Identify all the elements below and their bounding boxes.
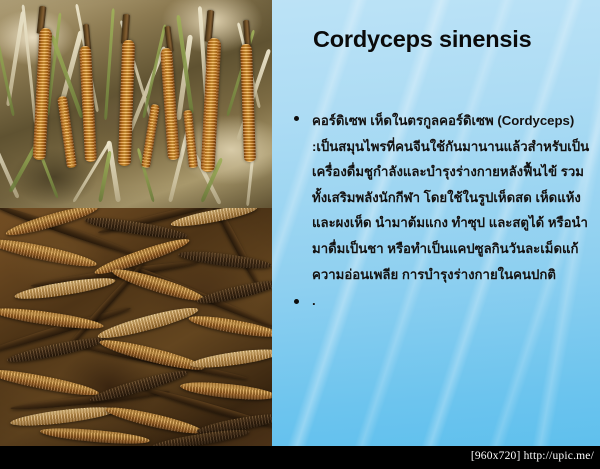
- dried-cordyceps-pile-photo: [0, 208, 272, 446]
- bullet-1-paragraph: คอร์ดิเซพ เห็ดในตรกูลคอร์ดิเซพ (Cordycep…: [312, 108, 598, 287]
- photo-column: [0, 0, 272, 446]
- bullet-item-2: .: [286, 292, 598, 310]
- watermark-bar: [960x720] http://upic.me/: [0, 446, 600, 469]
- page-title: Cordyceps sinensis: [313, 24, 593, 55]
- bullet-1-text: เป็นสมุนไพรที่คนจีนใช้กันมานานแล้วสำหรับ…: [312, 139, 589, 282]
- bullet-dot-icon: [294, 116, 299, 121]
- screenshot-stage: Cordyceps sinensis คอร์ดิเซพ เห็ดในตรกูล…: [0, 0, 600, 469]
- bullet-2-text: .: [312, 292, 598, 310]
- cordyceps-in-grassland-photo: [0, 0, 272, 208]
- bullet-item-1: คอร์ดิเซพ เห็ดในตรกูลคอร์ดิเซพ (Cordycep…: [286, 108, 598, 287]
- presentation-slide: Cordyceps sinensis คอร์ดิเซพ เห็ดในตรกูล…: [0, 0, 600, 446]
- slide-text-column: Cordyceps sinensis คอร์ดิเซพ เห็ดในตรกูล…: [272, 0, 600, 446]
- slide-body: คอร์ดิเซพ เห็ดในตรกูลคอร์ดิเซพ (Cordycep…: [286, 108, 598, 310]
- watermark-text: [960x720] http://upic.me/: [471, 450, 594, 462]
- bullet-dot-icon: [294, 299, 299, 304]
